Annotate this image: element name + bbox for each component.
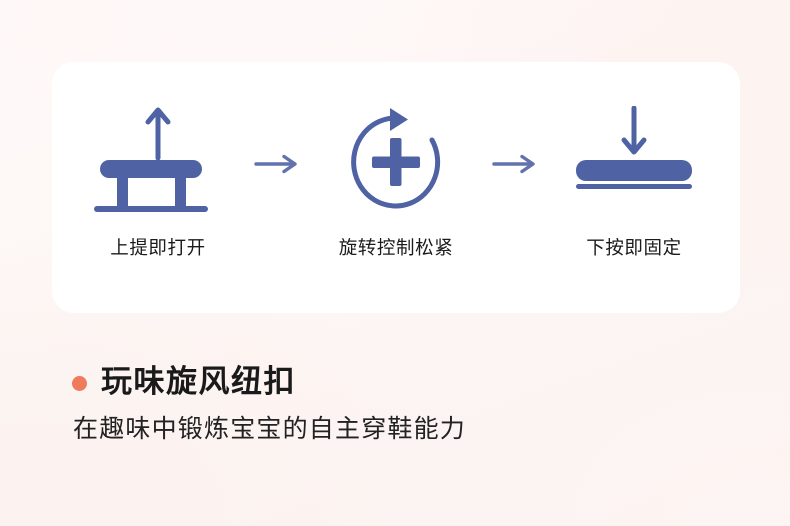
feature-title: 玩味旋风纽扣 [101, 364, 296, 400]
page-root: 上提即打开 [0, 0, 790, 526]
rotate-circle-plus-glyph [340, 104, 452, 216]
arrow-up-icon [143, 104, 173, 160]
steps-card: 上提即打开 [52, 62, 740, 313]
step-separator [244, 154, 310, 208]
step-label: 上提即打开 [110, 234, 206, 260]
step-separator [482, 154, 548, 208]
bullet-dot-icon [72, 376, 87, 391]
step-label: 下按即固定 [586, 234, 682, 260]
press-down-icon [564, 102, 704, 218]
feature-subtitle: 在趣味中锻炼宝宝的自主穿鞋能力 [73, 414, 732, 444]
buckle-base-line [94, 206, 208, 212]
feature-title-row: 玩味旋风纽扣 [72, 364, 732, 400]
step-lift-open: 上提即打开 [72, 102, 244, 260]
step-press-fix: 下按即固定 [548, 102, 720, 260]
step-illustration [326, 102, 466, 218]
arrow-down-icon [619, 106, 649, 156]
step-illustration [564, 102, 704, 218]
arrow-right-icon [492, 154, 538, 174]
step-illustration [88, 102, 228, 218]
buckle-leg-right [175, 176, 186, 209]
buckle-flat-bar [576, 160, 692, 181]
buckle-leg-left [117, 176, 128, 209]
steps-row: 上提即打开 [52, 62, 740, 313]
feature-block: 玩味旋风纽扣 在趣味中锻炼宝宝的自主穿鞋能力 [72, 364, 732, 444]
step-rotate-tension: 旋转控制松紧 [310, 102, 482, 260]
rotate-plus-icon [326, 102, 466, 218]
buckle-top-bar [100, 160, 202, 178]
lift-up-icon [88, 102, 228, 218]
arrow-right-icon [254, 154, 300, 174]
step-label: 旋转控制松紧 [339, 234, 454, 260]
buckle-base-line [576, 184, 692, 189]
